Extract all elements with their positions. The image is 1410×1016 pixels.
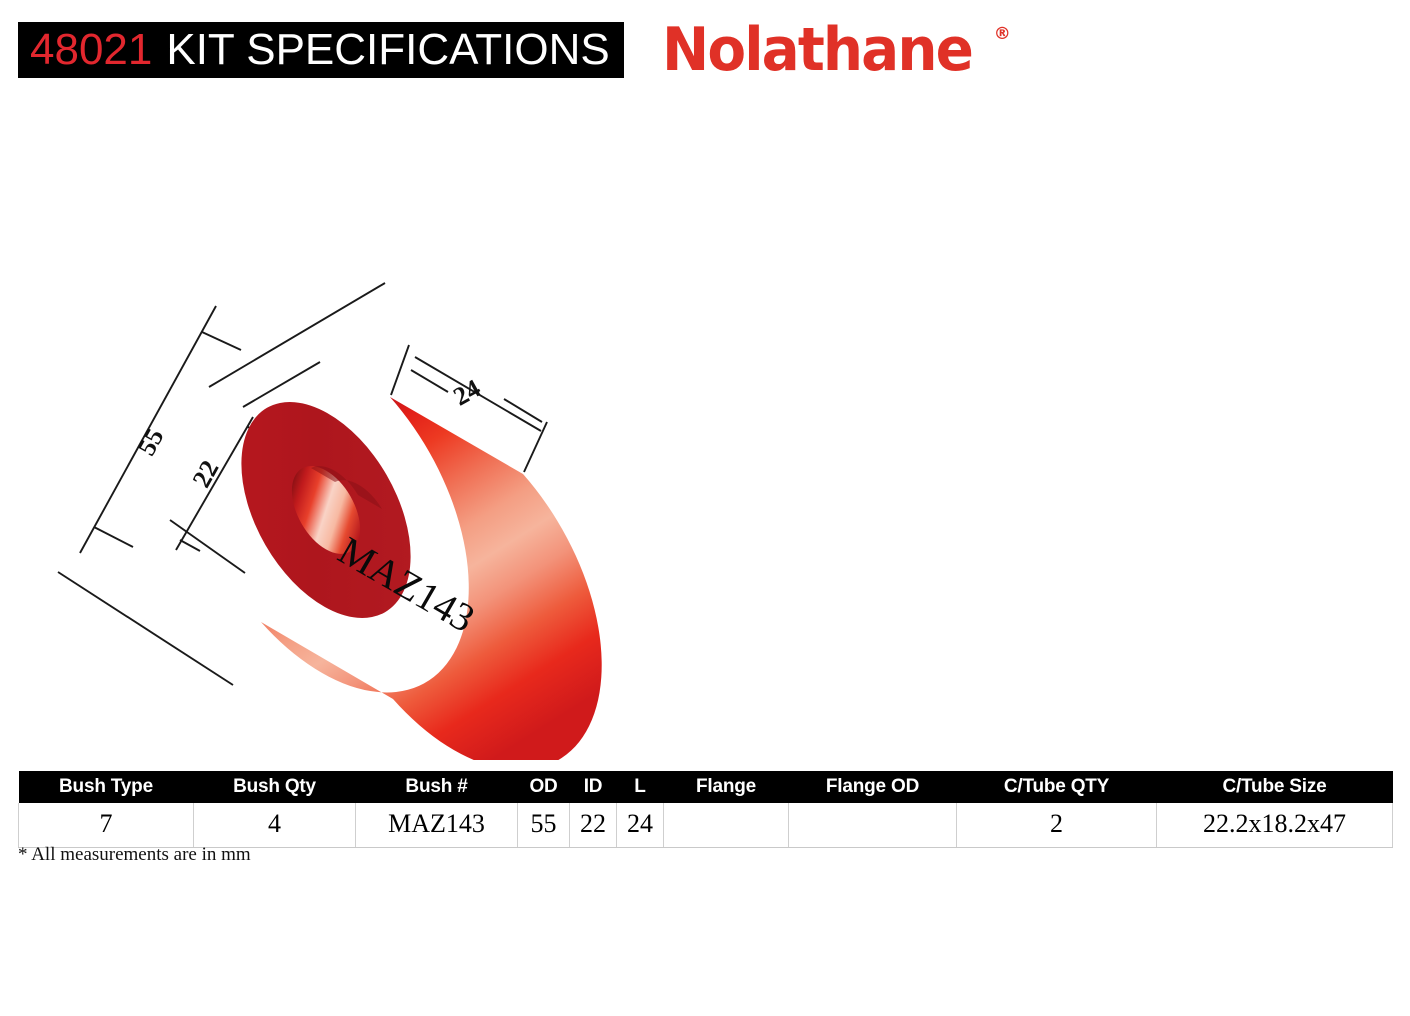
measurement-footnote: * All measurements are in mm xyxy=(18,845,251,864)
table-row: 7 4 MAZ143 55 22 24 2 22.2x18.2x47 xyxy=(19,803,1393,848)
dimension-id-label: 22 xyxy=(187,455,225,492)
cell-bush-number: MAZ143 xyxy=(356,803,518,848)
column-header-flange-od: Flange OD xyxy=(789,771,957,803)
cell-ctube-qty: 2 xyxy=(957,803,1157,848)
cell-id: 22 xyxy=(570,803,617,848)
column-header-od: OD xyxy=(518,771,570,803)
cell-flange xyxy=(664,803,789,848)
title-bar: 48021 KIT SPECIFICATIONS xyxy=(18,22,624,78)
nolathane-logo: Nolathane ® xyxy=(662,20,1011,80)
column-header-id: ID xyxy=(570,771,617,803)
cell-ctube-size: 22.2x18.2x47 xyxy=(1157,803,1393,848)
dimension-od-label: 55 xyxy=(132,423,170,460)
cell-l: 24 xyxy=(617,803,664,848)
brand-wordmark: Nolathane xyxy=(662,20,972,80)
column-header-bush-type: Bush Type xyxy=(19,771,194,803)
kit-number: 48021 xyxy=(30,28,152,72)
registered-trademark-icon: ® xyxy=(994,26,1011,43)
cell-od: 55 xyxy=(518,803,570,848)
column-header-ctube-size: C/Tube Size xyxy=(1157,771,1393,803)
cell-flange-od xyxy=(789,803,957,848)
page-title: KIT SPECIFICATIONS xyxy=(166,28,609,72)
column-header-flange: Flange xyxy=(664,771,789,803)
spec-table: Bush Type Bush Qty Bush # OD ID L Flange… xyxy=(18,771,1393,848)
bush-diagram: 55 22 24 xyxy=(0,110,1410,760)
column-header-bush-number: Bush # xyxy=(356,771,518,803)
cell-bush-qty: 4 xyxy=(194,803,356,848)
page-header: 48021 KIT SPECIFICATIONS Nolathane ® xyxy=(0,0,1410,110)
column-header-bush-qty: Bush Qty xyxy=(194,771,356,803)
spec-table-container: Bush Type Bush Qty Bush # OD ID L Flange… xyxy=(18,771,1392,848)
column-header-ctube-qty: C/Tube QTY xyxy=(957,771,1157,803)
cell-bush-type: 7 xyxy=(19,803,194,848)
column-header-l: L xyxy=(617,771,664,803)
table-header-row: Bush Type Bush Qty Bush # OD ID L Flange… xyxy=(19,771,1393,803)
